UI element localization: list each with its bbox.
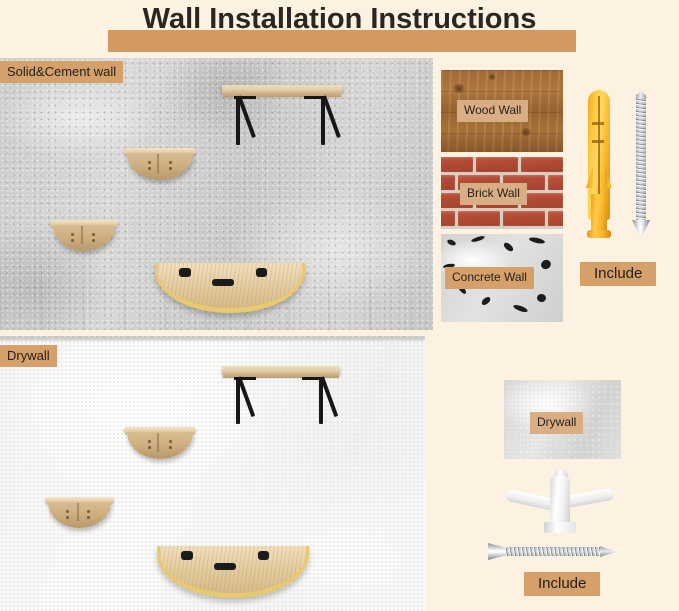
yellow-expansion-anchor-icon (586, 90, 612, 242)
instruction-poster: Wall Installation Instructions (0, 0, 679, 611)
shelf-halfmoon-lower (45, 497, 114, 528)
shelf-halfmoon-lower (50, 220, 118, 251)
swatch-drywall: Drywall (504, 380, 621, 459)
shelf-rectangular-top (222, 366, 340, 428)
silver-wood-screw-icon (488, 541, 619, 561)
shelf-halfmoon-upper (124, 148, 196, 180)
label-wood-wall: Wood Wall (457, 100, 528, 122)
shelf-halfmoon-upper (124, 427, 196, 459)
photo-drywall: Drywall (0, 336, 425, 611)
poster-header: Wall Installation Instructions (0, 0, 679, 58)
label-drywall-swatch: Drywall (530, 412, 583, 434)
white-toggle-anchor-icon (506, 468, 616, 540)
shelf-rectangular-top (222, 85, 342, 147)
label-solid-cement-wall: Solid&Cement wall (0, 61, 123, 83)
swatch-brick-wall: Brick Wall (441, 157, 563, 229)
swatch-concrete-wall: Concrete Wall (441, 234, 563, 322)
page-title: Wall Installation Instructions (0, 2, 679, 36)
label-concrete-wall: Concrete Wall (445, 267, 534, 289)
label-include-drywall: Include (524, 572, 600, 596)
label-brick-wall: Brick Wall (460, 183, 527, 205)
label-drywall-section: Drywall (0, 345, 57, 367)
photo-solid-cement-wall: Solid&Cement wall (0, 58, 433, 330)
cat-bridge-curved (157, 546, 309, 598)
label-include-solid: Include (580, 262, 656, 286)
cat-bridge-curved (155, 263, 305, 313)
swatch-wood-wall: Wood Wall (441, 70, 563, 152)
silver-wood-screw-icon (630, 90, 652, 245)
